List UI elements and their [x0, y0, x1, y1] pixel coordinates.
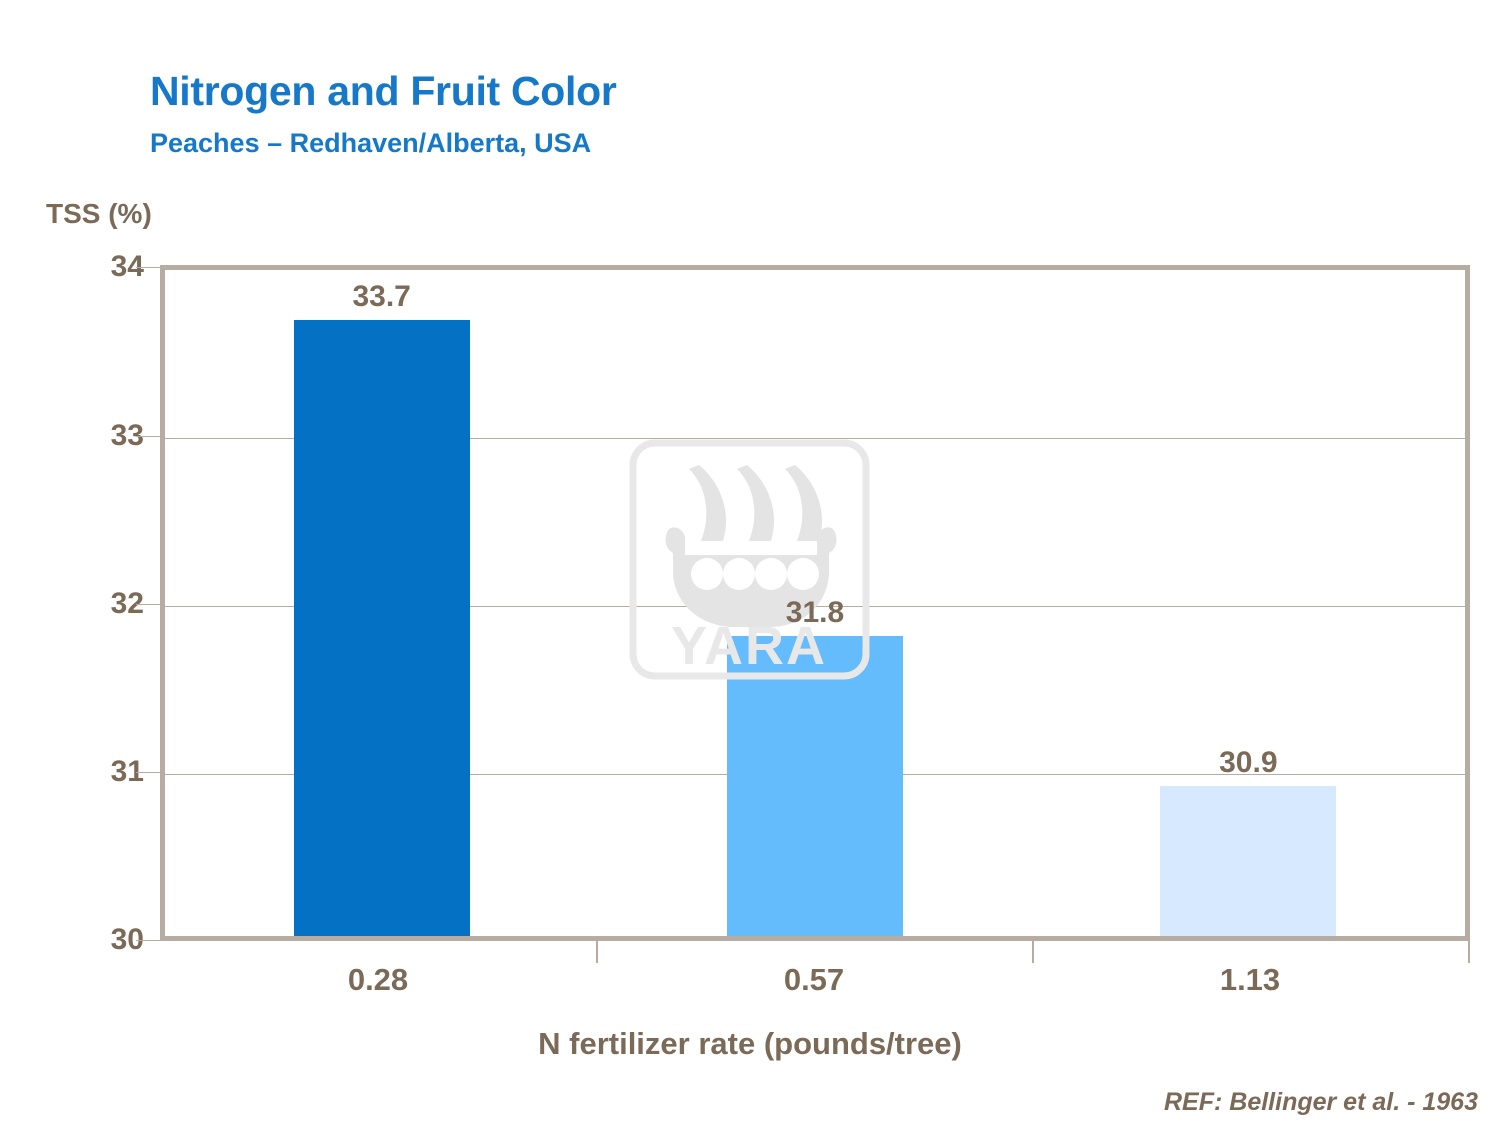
y-tick-label-30: 30	[24, 923, 144, 957]
y-tick-mark-32	[136, 604, 160, 605]
y-tick-label-34: 34	[24, 250, 144, 284]
x-tick-sep-3	[1468, 941, 1470, 963]
x-tick-label-0: 0.28	[160, 962, 596, 998]
y-tick-label-32: 32	[24, 587, 144, 621]
y-tick-label-33: 33	[24, 419, 144, 453]
y-tick-label-31: 31	[24, 755, 144, 789]
x-tick-label-1: 0.57	[596, 962, 1032, 998]
y-tick-mark-33	[136, 436, 160, 437]
bar-value-1: 31.8	[727, 596, 903, 630]
x-tick-sep-1	[596, 941, 598, 963]
bar-value-2: 30.9	[1160, 746, 1336, 780]
y-tick-mark-31	[136, 772, 160, 773]
x-axis-title: N fertilizer rate (pounds/tree)	[0, 1026, 1500, 1062]
reference-note: REF: Bellinger et al. - 1963	[1164, 1088, 1478, 1117]
page-subtitle: Peaches – Redhaven/Alberta, USA	[150, 128, 591, 159]
bar-1[interactable]	[727, 636, 903, 936]
x-tick-label-2: 1.13	[1032, 962, 1468, 998]
y-tick-mark-34	[136, 267, 160, 268]
page-title: Nitrogen and Fruit Color	[150, 68, 617, 115]
x-tick-sep-2	[1032, 941, 1034, 963]
bar-0[interactable]	[294, 320, 470, 936]
bar-value-0: 33.7	[294, 280, 470, 314]
bar-2[interactable]	[1160, 786, 1336, 936]
y-axis-title: TSS (%)	[46, 198, 152, 230]
y-tick-mark-30	[136, 940, 160, 941]
